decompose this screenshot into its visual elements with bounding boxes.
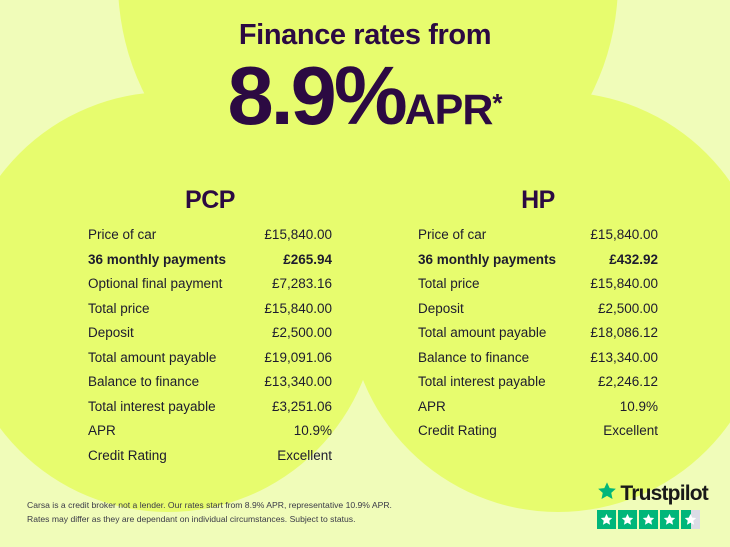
row-label: 36 monthly payments [88, 252, 226, 267]
row-label: Total interest payable [418, 374, 546, 389]
row-value: £18,086.12 [590, 325, 658, 340]
table-row: APR10.9% [88, 423, 332, 448]
row-value: £13,340.00 [264, 374, 332, 389]
headline-rate: 8.9%APR* [0, 52, 730, 137]
poster-header: Finance rates from 8.9%APR* [0, 0, 730, 137]
row-value: £2,500.00 [272, 325, 332, 340]
row-label: Optional final payment [88, 276, 222, 291]
row-label: Balance to finance [88, 374, 199, 389]
table-row: Balance to finance£13,340.00 [88, 374, 332, 399]
table-row: Total interest payable£2,246.12 [418, 374, 658, 399]
table-row: Optional final payment£7,283.16 [88, 276, 332, 301]
row-value: £15,840.00 [264, 301, 332, 316]
row-value: £15,840.00 [264, 227, 332, 242]
row-value: 10.9% [294, 423, 332, 438]
row-value: £2,500.00 [598, 301, 658, 316]
disclaimer-line-2: Rates may differ as they are dependant o… [27, 513, 457, 526]
table-row: Price of car£15,840.00 [88, 227, 332, 252]
row-label: Total interest payable [88, 399, 216, 414]
row-value: Excellent [603, 423, 658, 438]
plan-hp-title: HP [418, 186, 658, 215]
row-label: Total price [418, 276, 480, 291]
trustpilot-star-box [660, 510, 679, 529]
plan-hp: HP Price of car£15,840.0036 monthly paym… [418, 186, 658, 448]
row-value: £7,283.16 [272, 276, 332, 291]
table-row: Deposit£2,500.00 [88, 325, 332, 350]
row-label: Total amount payable [418, 325, 546, 340]
trustpilot-wordmark: Trustpilot [620, 483, 708, 504]
trustpilot-brand: Trustpilot [597, 481, 708, 506]
row-label: APR [418, 399, 446, 414]
row-label: Deposit [418, 301, 464, 316]
row-value: £19,091.06 [264, 350, 332, 365]
trustpilot-badge[interactable]: Trustpilot [597, 481, 708, 529]
rate-value: 8.9% [227, 49, 404, 142]
row-value: £15,840.00 [590, 276, 658, 291]
plan-hp-rows: Price of car£15,840.0036 monthly payment… [418, 227, 658, 448]
trustpilot-star-box [618, 510, 637, 529]
row-value: £432.92 [609, 252, 658, 267]
row-label: Credit Rating [88, 448, 167, 463]
table-row: Total price£15,840.00 [88, 301, 332, 326]
trustpilot-star-box [639, 510, 658, 529]
table-row: Total amount payable£18,086.12 [418, 325, 658, 350]
disclaimer-line-1: Carsa is a credit broker not a lender. O… [27, 499, 457, 512]
row-value: £15,840.00 [590, 227, 658, 242]
trustpilot-star-rating [597, 510, 708, 529]
row-value: £2,246.12 [598, 374, 658, 389]
row-label: APR [88, 423, 116, 438]
table-row: Deposit£2,500.00 [418, 301, 658, 326]
row-value: Excellent [277, 448, 332, 463]
plan-pcp-title: PCP [88, 186, 332, 215]
table-row: Total amount payable£19,091.06 [88, 350, 332, 375]
rate-asterisk: * [492, 88, 502, 118]
trustpilot-star-box [681, 510, 700, 529]
finance-rates-poster: Finance rates from 8.9%APR* PCP Price of… [0, 0, 730, 547]
table-row: Total interest payable£3,251.06 [88, 399, 332, 424]
plan-pcp: PCP Price of car£15,840.0036 monthly pay… [88, 186, 332, 472]
table-row: Price of car£15,840.00 [418, 227, 658, 252]
disclaimer: Carsa is a credit broker not a lender. O… [27, 499, 457, 526]
row-label: Deposit [88, 325, 134, 340]
row-label: Price of car [88, 227, 156, 242]
row-label: Credit Rating [418, 423, 497, 438]
plan-pcp-rows: Price of car£15,840.0036 monthly payment… [88, 227, 332, 472]
row-label: Total price [88, 301, 150, 316]
row-value: £13,340.00 [590, 350, 658, 365]
table-row: Balance to finance£13,340.00 [418, 350, 658, 375]
table-row: 36 monthly payments£265.94 [88, 252, 332, 277]
trustpilot-star-icon [597, 481, 617, 506]
row-label: 36 monthly payments [418, 252, 556, 267]
page-title: Finance rates from [0, 0, 730, 52]
trustpilot-star-box [597, 510, 616, 529]
rate-unit: APR [405, 86, 493, 134]
row-label: Price of car [418, 227, 486, 242]
table-row: 36 monthly payments£432.92 [418, 252, 658, 277]
row-label: Total amount payable [88, 350, 216, 365]
table-row: Credit RatingExcellent [88, 448, 332, 473]
table-row: Total price£15,840.00 [418, 276, 658, 301]
row-label: Balance to finance [418, 350, 529, 365]
row-value: £3,251.06 [272, 399, 332, 414]
row-value: 10.9% [620, 399, 658, 414]
table-row: APR10.9% [418, 399, 658, 424]
table-row: Credit RatingExcellent [418, 423, 658, 448]
row-value: £265.94 [283, 252, 332, 267]
